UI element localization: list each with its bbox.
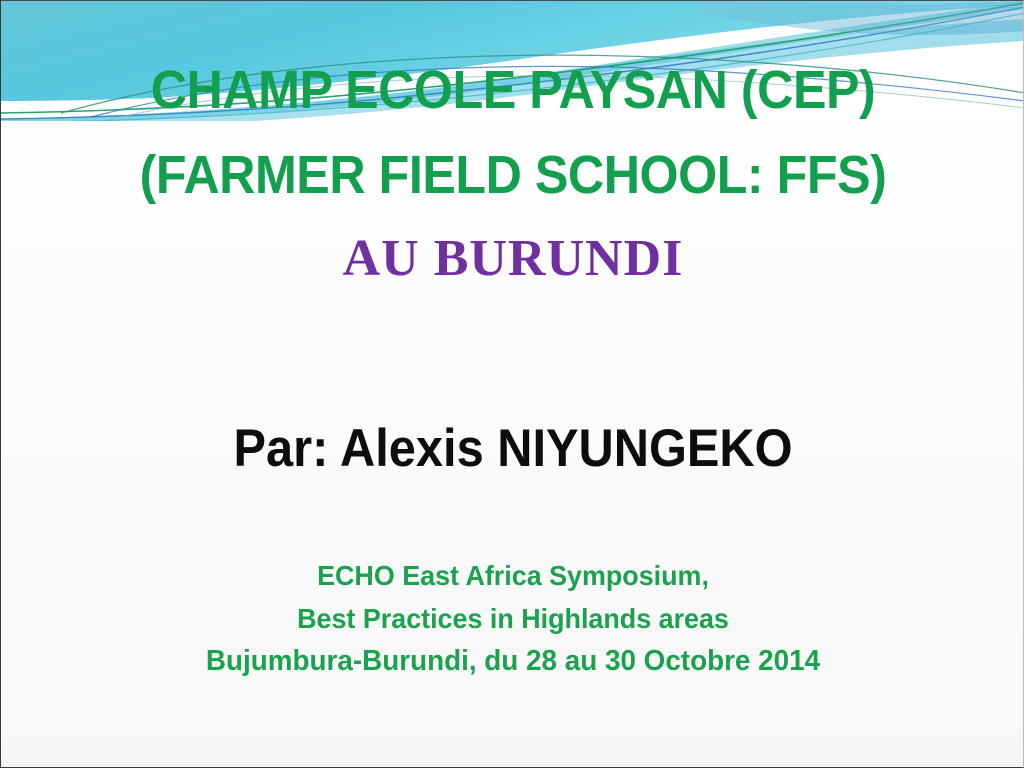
event-details: ECHO East Africa Symposium, Best Practic… <box>1 554 1024 683</box>
slide-subtitle-country: AU BURUNDI <box>1 233 1024 285</box>
slide-author: Par: Alexis NIYUNGEKO <box>42 422 984 475</box>
event-line-symposium: ECHO East Africa Symposium, <box>21 554 1004 597</box>
slide-title-line-1: CHAMP ECOLE PAYSAN (CEP) <box>37 63 989 117</box>
event-line-location-date: Bujumbura-Burundi, du 28 au 30 Octobre 2… <box>21 640 1004 683</box>
slide-title-line-2: (FARMER FIELD SCHOOL: FFS) <box>37 148 989 202</box>
presentation-slide: CHAMP ECOLE PAYSAN (CEP) (FARMER FIELD S… <box>0 0 1024 768</box>
event-line-theme: Best Practices in Highlands areas <box>21 597 1004 640</box>
slide-content: CHAMP ECOLE PAYSAN (CEP) (FARMER FIELD S… <box>1 1 1023 767</box>
